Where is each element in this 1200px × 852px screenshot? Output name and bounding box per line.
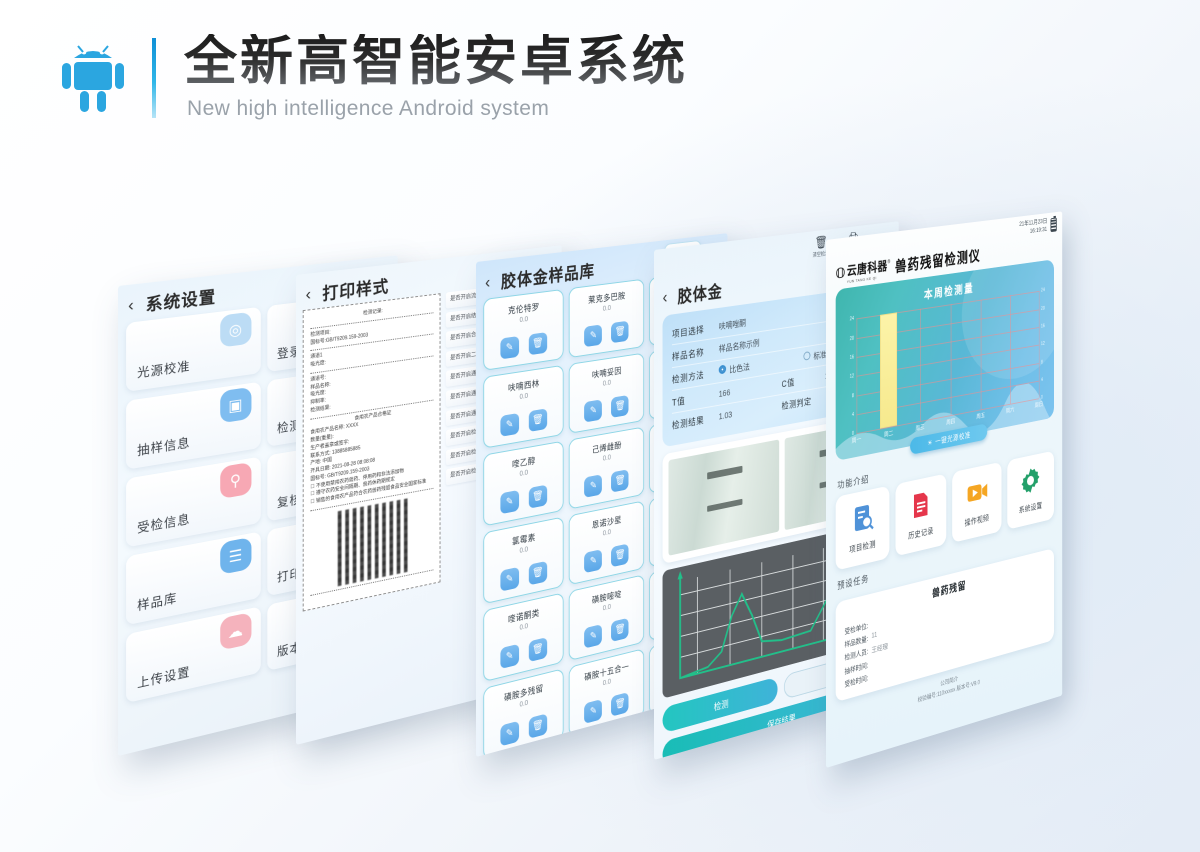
task-value: 王经理 [871, 642, 887, 656]
function-系统设置[interactable]: 系统设置 [1007, 451, 1054, 530]
settings-item-label: 受检信息 [137, 508, 190, 536]
x-tick: 周六 [1006, 405, 1015, 415]
sample-name: 磺胺嘧啶 [592, 588, 622, 606]
edit-icon[interactable]: ✎ [500, 336, 519, 359]
function-项目检测[interactable]: 项目检测 [836, 486, 889, 571]
gridline-v [1010, 295, 1011, 404]
form-key-2: 检测判定 [782, 392, 825, 412]
y-tick: 20 [850, 335, 854, 342]
trash-icon[interactable]: 🗑 [529, 637, 547, 662]
edit-icon[interactable]: ✎ [585, 699, 603, 724]
settings-item-label: 抽样信息 [137, 432, 190, 459]
y-tick: 16 [850, 354, 854, 361]
edit-icon[interactable]: ✎ [500, 567, 519, 592]
sample-card[interactable]: 克伦特罗0.0✎🗑 [483, 289, 563, 371]
video-play-icon [966, 477, 988, 513]
qr-code-icon [338, 498, 408, 586]
battery-icon [1051, 218, 1057, 233]
trash-icon[interactable]: 🗑 [611, 543, 628, 567]
x-tick: 周二 [884, 428, 893, 439]
gridline-v [981, 300, 982, 410]
y-tick: 4 [852, 412, 854, 418]
trash-icon[interactable]: 🗑 [611, 469, 628, 492]
sample-value: 0.0 [519, 546, 528, 555]
sample-card[interactable]: 己烯雌酚0.0✎🗑 [568, 426, 644, 509]
y-tick: 24 [850, 316, 854, 323]
form-key: 项目选择 [672, 320, 719, 340]
sample-card[interactable]: 磺胺十五合一0.0✎🗑 [568, 648, 644, 737]
record-file-icon [910, 489, 931, 526]
back-icon[interactable]: ‹ [663, 288, 668, 306]
edit-icon[interactable]: ✎ [500, 721, 519, 747]
x-tick: 周五 [976, 411, 985, 421]
test-strip-image [669, 440, 779, 556]
back-icon[interactable]: ‹ [128, 296, 134, 314]
settings-item-label: 样品库 [137, 587, 177, 614]
trash-icon[interactable]: 🗑 [529, 332, 547, 355]
sample-value: 0.0 [519, 316, 528, 324]
function-历史记录[interactable]: 历史记录 [895, 474, 946, 557]
edit-icon[interactable]: ✎ [585, 624, 603, 648]
y-tick-right: 12 [1041, 341, 1045, 347]
form-key: T值 [672, 388, 719, 409]
function-操作视频[interactable]: 操作视频 [952, 462, 1001, 543]
trash-icon[interactable]: 🗑 [529, 408, 547, 432]
x-tick: 周四 [946, 416, 955, 426]
sample-card[interactable]: 磺胺嘧啶0.0✎🗑 [568, 574, 644, 661]
gridline-v [920, 309, 921, 421]
sample-card[interactable]: 喹诺酮类0.0✎🗑 [483, 592, 563, 682]
trash-icon[interactable]: 🗑 [529, 485, 547, 509]
x-tick: 周日 [1035, 400, 1043, 410]
function-label: 系统设置 [1019, 500, 1042, 516]
cloud-upload-icon: ☁ [220, 612, 251, 651]
edit-icon[interactable]: ✎ [500, 644, 519, 669]
form-key-2: C值 [782, 370, 825, 390]
y-tick: 8 [852, 393, 854, 399]
y-tick-right: 16 [1041, 323, 1045, 329]
function-label: 项目检测 [849, 538, 876, 555]
sample-name: 喹乙醇 [512, 454, 536, 470]
settings-item-0[interactable]: ◎光源校准 [126, 307, 260, 392]
trash-icon[interactable]: 🗑 [611, 321, 628, 344]
sun-icon: ☀ [927, 438, 932, 448]
gridline-v [1039, 291, 1040, 398]
sample-value: 0.0 [603, 380, 611, 388]
sample-value: 0.0 [603, 678, 611, 687]
sample-value: 0.0 [519, 700, 528, 709]
y-tick-right: 20 [1041, 305, 1045, 311]
chart-plot-area: 04812162024 04812162024 周一周二周三周四周五周六周日 [856, 291, 1038, 433]
list-icon: ☰ [220, 537, 251, 575]
function-label: 历史记录 [908, 525, 933, 542]
trash-icon[interactable]: 🗑 [529, 561, 547, 586]
sample-name: 克伦特罗 [508, 301, 539, 317]
yuntang-logo: 𝕆 云唐科器® YUN TANG KE QI [836, 255, 891, 286]
sample-card[interactable]: 呋喃妥因0.0✎🗑 [568, 353, 644, 434]
x-tick: 周一 [852, 435, 862, 446]
sample-value: 0.0 [603, 305, 611, 313]
trash-icon[interactable]: 🗑 [611, 618, 628, 642]
edit-icon[interactable]: ✎ [585, 549, 603, 573]
edit-icon[interactable]: ✎ [585, 324, 603, 347]
sample-value: 0.0 [519, 469, 528, 477]
sample-value: 0.0 [519, 623, 528, 632]
sample-value: 0.0 [603, 454, 611, 462]
function-label: 操作视频 [965, 512, 989, 528]
radio-icon [803, 351, 810, 361]
screen-title: 胶体金 [678, 277, 723, 308]
target-icon: ◎ [220, 312, 251, 348]
x-tick: 周三 [915, 422, 924, 432]
edit-icon[interactable]: ✎ [585, 399, 603, 422]
radio-selected-icon [719, 365, 726, 375]
back-icon[interactable]: ‹ [485, 273, 490, 291]
y-tick-right: 24 [1041, 288, 1045, 294]
document-search-icon [851, 501, 873, 538]
logo-glyph: 𝕆 [836, 266, 846, 281]
form-key: 检测结果 [672, 410, 719, 431]
edit-icon[interactable]: ✎ [500, 413, 519, 437]
trash-icon[interactable]: 🗑 [529, 713, 547, 738]
sample-card[interactable]: 磺胺多残留0.0✎🗑 [483, 668, 563, 757]
task-value: 11 [871, 632, 877, 643]
gear-icon [1021, 465, 1041, 500]
settings-item-label: 光源校准 [137, 355, 190, 381]
screen-home[interactable]: 21年11月23日 16:19:31 𝕆 云唐科器® YUN TANG KE Q… [826, 211, 1062, 768]
y-tick: 12 [850, 374, 854, 381]
settings-item-1[interactable]: ▣抽样信息 [126, 382, 260, 470]
trash-icon[interactable]: 🗑 [611, 395, 628, 418]
shield-search-icon: ⚲ [220, 462, 251, 499]
trash-icon[interactable]: 🗑 [611, 692, 628, 717]
sample-card[interactable]: 氯霉素0.0✎🗑 [483, 517, 563, 605]
sample-card[interactable]: 喹乙醇0.0✎🗑 [483, 441, 563, 527]
trademark-mark: ® [887, 260, 890, 266]
settings-item-2[interactable]: ⚲受检信息 [126, 457, 260, 548]
print-preview-ticket: 检测记录:检测项目:国标号:GB/T9209.159-2003通道1吸光度:通道… [303, 293, 441, 611]
sample-name: 呋喃妥因 [592, 365, 622, 381]
form-key: 样品名称 [672, 343, 719, 363]
sample-value: 0.0 [603, 529, 611, 537]
edit-icon[interactable]: ✎ [585, 474, 603, 498]
device-screens-stage: ‹ 系统设置 ◎光源校准▣抽样信息⚲受检信息☰样品库☁上传设置 登录保护检测信息… [0, 0, 1200, 852]
sample-name: 莱克多巴胺 [588, 290, 625, 306]
sample-name: 呋喃西林 [508, 377, 539, 394]
sample-name: 恩诺沙星 [592, 513, 622, 531]
sample-card[interactable]: 莱克多巴胺0.0✎🗑 [568, 279, 644, 359]
sample-card[interactable]: 恩诺沙星0.0✎🗑 [568, 500, 644, 585]
sample-value: 0.0 [603, 604, 611, 613]
back-icon[interactable]: ‹ [306, 285, 311, 303]
gridline-v [856, 319, 857, 434]
form-value: 1.03 [719, 401, 782, 422]
gridline-v [951, 304, 952, 415]
task-key: 受检时间: [845, 673, 869, 690]
sample-name: 氯霉素 [512, 531, 536, 548]
y-tick-right: 4 [1041, 377, 1043, 383]
y-tick-right: 8 [1041, 359, 1043, 365]
sample-value: 0.0 [519, 393, 528, 401]
form-key: 检测方法 [672, 365, 719, 385]
settings-column-left: ◎光源校准▣抽样信息⚲受检信息☰样品库☁上传设置 [126, 307, 260, 703]
edit-icon[interactable]: ✎ [500, 490, 519, 514]
sample-name: 己烯雌酚 [592, 439, 622, 456]
chart-bar [880, 313, 897, 429]
sample-card[interactable]: 呋喃西林0.0✎🗑 [483, 365, 563, 449]
photo-icon: ▣ [220, 387, 251, 424]
settings-item-label: 上传设置 [137, 661, 190, 692]
